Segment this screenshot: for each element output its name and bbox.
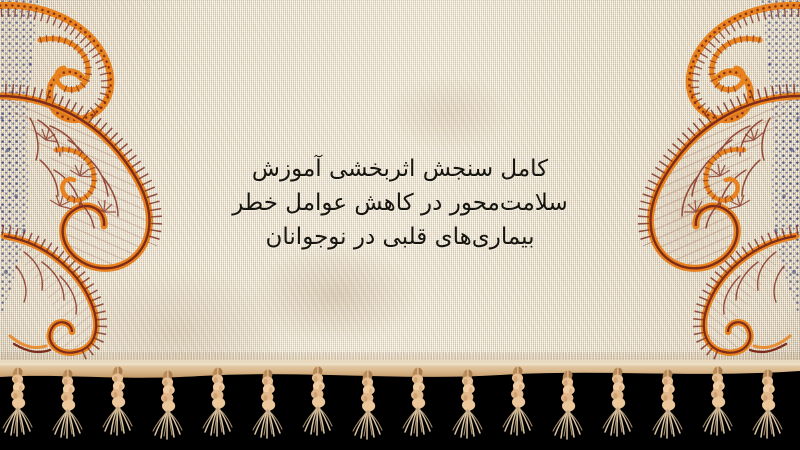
slide-title: کامل سنجش اثربخشی آموزش سلامت‌محور در کا… bbox=[150, 152, 650, 254]
title-line-3: بیماری‌های قلبی در نوجوانان bbox=[150, 220, 650, 254]
title-slide: کامل سنجش اثربخشی آموزش سلامت‌محور در کا… bbox=[0, 0, 800, 450]
title-line-1: کامل سنجش اثربخشی آموزش bbox=[150, 152, 650, 186]
title-line-2: سلامت‌محور در کاهش عوامل خطر bbox=[150, 186, 650, 220]
tassel-fringe bbox=[0, 360, 800, 450]
